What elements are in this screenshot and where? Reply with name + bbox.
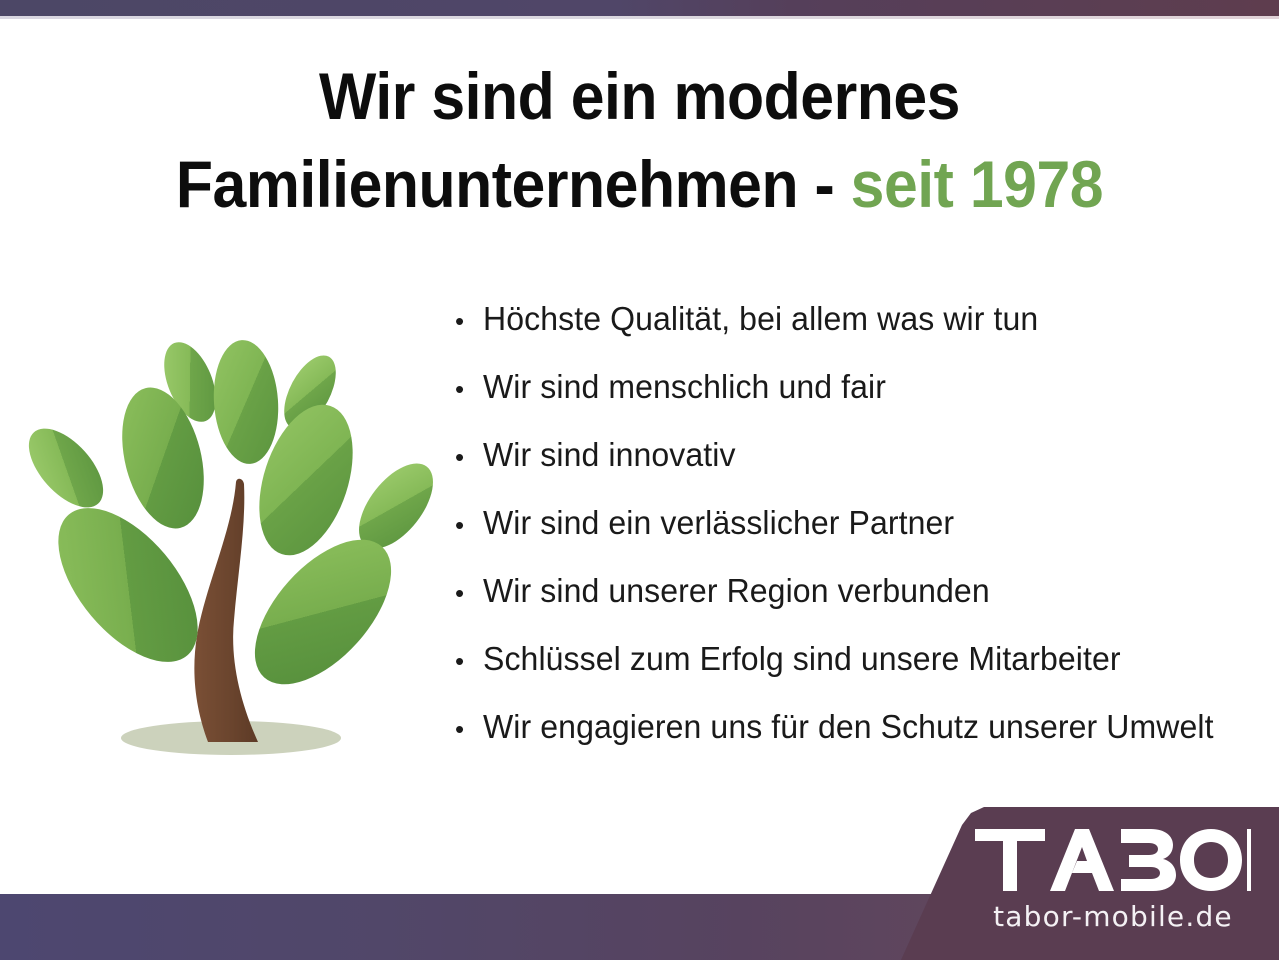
list-item: • Wir sind innovativ <box>455 436 1265 504</box>
headline-line-1: Wir sind ein modernes <box>51 52 1228 140</box>
value-list: • Höchste Qualität, bei allem was wir tu… <box>455 300 1265 776</box>
bullet-marker-icon: • <box>455 376 483 402</box>
logo-banner: tabor-mobile.de <box>887 807 1279 960</box>
bullet-marker-icon: • <box>455 308 483 334</box>
bullet-marker-icon: • <box>455 648 483 674</box>
logo-lockup: tabor-mobile.de <box>973 827 1253 933</box>
slide-canvas: Wir sind ein modernes Familienunternehme… <box>0 0 1279 960</box>
logo-domain-label: tabor-mobile.de <box>973 900 1253 933</box>
list-item-label: Wir sind menschlich und fair <box>483 368 886 406</box>
list-item: • Wir engagieren uns für den Schutz unse… <box>455 708 1265 776</box>
tree-leaf <box>18 416 117 521</box>
list-item-label: Wir sind innovativ <box>483 436 736 474</box>
headline-line-2-prefix: Familienunternehmen - <box>176 147 851 221</box>
tree-illustration <box>18 330 448 770</box>
list-item-label: Schlüssel zum Erfolg sind unsere Mitarbe… <box>483 640 1121 678</box>
headline-line-2: Familienunternehmen - seit 1978 <box>51 140 1228 228</box>
bullet-marker-icon: • <box>455 512 483 538</box>
list-item-label: Wir sind unserer Region verbunden <box>483 572 990 610</box>
page-title: Wir sind ein modernes Familienunternehme… <box>51 52 1228 228</box>
tree-leaf <box>210 338 282 466</box>
list-item: • Wir sind unserer Region verbunden <box>455 572 1265 640</box>
list-item: • Höchste Qualität, bei allem was wir tu… <box>455 300 1265 368</box>
list-item-label: Höchste Qualität, bei allem was wir tun <box>483 300 1038 338</box>
top-accent-hairline <box>0 16 1279 19</box>
list-item: • Wir sind ein verlässlicher Partner <box>455 504 1265 572</box>
headline-accent-year: seit 1978 <box>851 147 1103 221</box>
bullet-marker-icon: • <box>455 444 483 470</box>
tabor-wordmark-icon <box>973 827 1253 893</box>
list-item-label: Wir engagieren uns für den Schutz unsere… <box>483 708 1214 746</box>
top-accent-bar <box>0 0 1279 16</box>
bullet-marker-icon: • <box>455 716 483 742</box>
list-item: • Schlüssel zum Erfolg sind unsere Mitar… <box>455 640 1265 708</box>
bullet-marker-icon: • <box>455 580 483 606</box>
list-item: • Wir sind menschlich und fair <box>455 368 1265 436</box>
list-item-label: Wir sind ein verlässlicher Partner <box>483 504 954 542</box>
tree-trunk <box>194 479 258 742</box>
